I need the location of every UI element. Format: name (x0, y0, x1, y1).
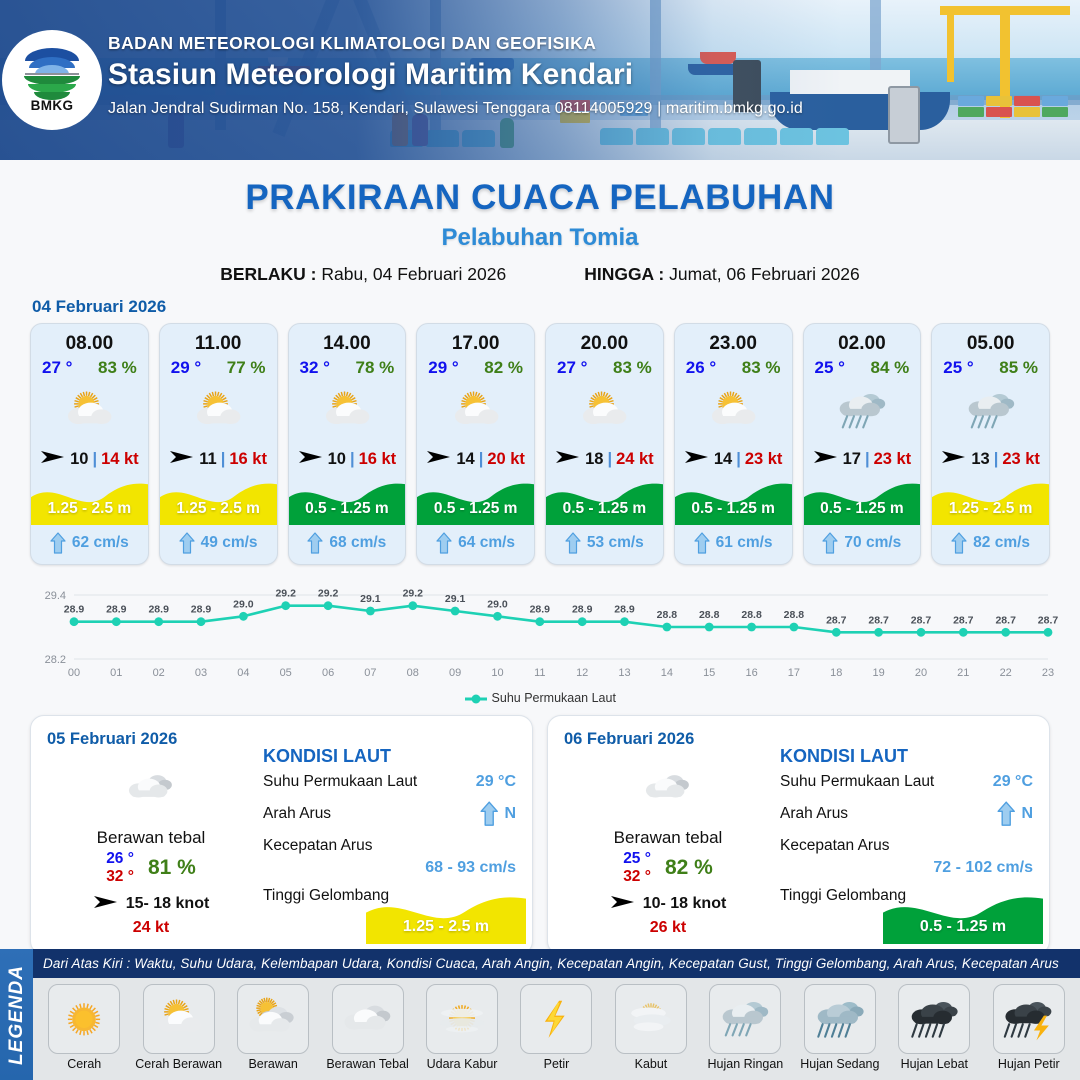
legend-item-row: Cerah Cerah Berawan (33, 978, 1080, 1080)
sst-row: Suhu Permukaan Laut 29 °C (263, 773, 518, 799)
svg-text:28.7: 28.7 (911, 614, 932, 626)
legend-item: Berawan (226, 984, 320, 1080)
page-title: PRAKIRAAN CUACA PELABUHAN (0, 178, 1080, 218)
svg-text:06: 06 (322, 667, 334, 679)
current-speed-value: 68 - 93 cm/s (425, 859, 516, 877)
day-wave-height: 0.5 - 1.25 m (883, 918, 1043, 936)
svg-text:29.2: 29.2 (403, 588, 424, 600)
sst-chart: 29.428.228.90028.90128.90228.90329.00429… (22, 579, 1058, 687)
card-wind-speed: 11 (199, 450, 216, 469)
card-time: 17.00 (417, 324, 534, 355)
weather-cloudy-icon (237, 984, 309, 1054)
card-wave: 1.25 - 2.5 m (160, 477, 277, 525)
svg-text:28.7: 28.7 (868, 614, 889, 626)
svg-text:18: 18 (830, 667, 842, 679)
svg-text:05: 05 (280, 667, 292, 679)
current-direction-label: Arah Arus (263, 805, 331, 822)
wind-direction-icon (93, 893, 119, 911)
svg-text:19: 19 (872, 667, 884, 679)
wind-direction-icon (555, 448, 581, 471)
card-temperature: 27 ° (557, 358, 587, 378)
svg-text:20: 20 (915, 667, 927, 679)
day-gust: 24 kt (51, 919, 251, 937)
card-humidity: 84 % (871, 358, 910, 378)
current-direction-icon (436, 532, 452, 554)
card-separator: | (221, 450, 226, 469)
day-wind: 10- 18 knot (568, 893, 768, 916)
current-direction-icon (997, 801, 1015, 826)
svg-text:09: 09 (449, 667, 461, 679)
current-direction-icon (179, 532, 195, 554)
card-separator: | (994, 450, 999, 469)
sea-conditions-title: KONDISI LAUT (263, 746, 518, 767)
card-separator: | (350, 450, 355, 469)
card-current-speed: 61 cm/s (716, 534, 773, 552)
sst-value: 29 °C (993, 773, 1033, 791)
weather-partly-cloudy-icon (417, 380, 534, 442)
day-wind-speed: 10- 18 knot (643, 895, 727, 913)
wind-direction-icon (813, 448, 839, 471)
card-wave-height: 1.25 - 2.5 m (932, 500, 1049, 518)
header-text-block: BADAN METEOROLOGI KLIMATOLOGI DAN GEOFIS… (108, 33, 968, 118)
svg-text:28.9: 28.9 (191, 604, 212, 616)
legend-item: Hujan Ringan (698, 984, 792, 1080)
card-gust: 16 kt (359, 450, 397, 469)
card-time: 11.00 (160, 324, 277, 355)
svg-text:28.2: 28.2 (45, 654, 66, 666)
legend-item-label: Petir (544, 1057, 570, 1071)
card-current-speed: 70 cm/s (844, 534, 901, 552)
wind-direction-icon (93, 893, 119, 916)
card-wave: 0.5 - 1.25 m (417, 477, 534, 525)
card-gust: 24 kt (616, 450, 654, 469)
wind-direction-icon (610, 893, 636, 916)
wind-direction-icon (298, 448, 324, 466)
card-time: 23.00 (675, 324, 792, 355)
legend-item: Berawan Tebal (320, 984, 414, 1080)
wind-direction-icon (426, 448, 452, 471)
card-wind: 10 | 14 kt (31, 448, 148, 471)
card-separator: | (92, 450, 97, 469)
day-gust: 26 kt (568, 919, 768, 937)
card-humidity: 78 % (356, 358, 395, 378)
svg-text:15: 15 (703, 667, 715, 679)
card-wave-height: 0.5 - 1.25 m (289, 500, 406, 518)
day-humidity: 82 % (665, 856, 713, 880)
berlaku-block: BERLAKU : Rabu, 04 Februari 2026 (220, 264, 506, 285)
legend-item: Hujan Sedang (793, 984, 887, 1080)
svg-text:29.2: 29.2 (275, 588, 296, 600)
weather-sunny-icon (48, 984, 120, 1054)
svg-text:12: 12 (576, 667, 588, 679)
svg-text:28.7: 28.7 (995, 614, 1016, 626)
card-wave-height: 0.5 - 1.25 m (417, 500, 534, 518)
card-current: 68 cm/s (289, 525, 406, 564)
card-wind: 14 | 23 kt (675, 448, 792, 471)
card-wind: 11 | 16 kt (160, 448, 277, 471)
wind-direction-icon (684, 448, 710, 466)
legend-item: Cerah Berawan (131, 984, 225, 1080)
card-temp-humidity: 26 ° 83 % (675, 355, 792, 378)
svg-text:01: 01 (110, 667, 122, 679)
card-humidity: 85 % (999, 358, 1038, 378)
day-wave-height: 1.25 - 2.5 m (366, 918, 526, 936)
card-time: 08.00 (31, 324, 148, 355)
day-weather-block: Berawan tebal 26 ° 32 ° 81 % 15- 18 knot… (51, 760, 251, 937)
current-direction-icon (822, 532, 838, 554)
card-gust: 16 kt (229, 450, 267, 469)
card-separator: | (479, 450, 484, 469)
legend-item-label: Kabut (635, 1057, 668, 1071)
legend-item: Udara Kabur (415, 984, 509, 1080)
sea-conditions-block: KONDISI LAUT Suhu Permukaan Laut 29 °C A… (263, 746, 518, 913)
card-separator: | (607, 450, 612, 469)
svg-text:28.8: 28.8 (741, 609, 762, 621)
wind-direction-icon (610, 893, 636, 911)
chart-legend: Suhu Permukaan Laut (0, 691, 1080, 705)
card-current-speed: 82 cm/s (973, 534, 1030, 552)
svg-text:28.7: 28.7 (953, 614, 974, 626)
card-wave: 0.5 - 1.25 m (804, 477, 921, 525)
card-wind-speed: 14 (714, 450, 732, 469)
svg-text:04: 04 (237, 667, 249, 679)
forecast-card[interactable]: 05.00 25 ° 85 % 13 | 23 kt (931, 323, 1050, 565)
legend-item: Kabut (604, 984, 698, 1080)
weather-overcast-icon (568, 760, 768, 816)
infographic-page: BMKG BADAN METEOROLOGI KLIMATOLOGI DAN G… (0, 0, 1080, 1080)
chart-legend-marker (464, 693, 488, 705)
card-temp-humidity: 27 ° 83 % (546, 355, 663, 378)
card-wind-speed: 17 (843, 450, 861, 469)
card-wave-height: 0.5 - 1.25 m (675, 500, 792, 518)
card-current-speed: 53 cm/s (587, 534, 644, 552)
svg-text:28.9: 28.9 (148, 604, 169, 616)
daily-forecast-panel[interactable]: 05 Februari 2026 Berawan tebal 26 ° 32 ° (30, 715, 533, 955)
svg-text:10: 10 (491, 667, 503, 679)
card-wind: 17 | 23 kt (804, 448, 921, 471)
forecast-card[interactable]: 08.00 27 ° 83 % 10 | 14 kt 1.25 - 2.5 m (30, 323, 149, 565)
wind-direction-icon (169, 448, 195, 471)
svg-text:03: 03 (195, 667, 207, 679)
wind-direction-icon (169, 448, 195, 466)
svg-text:29.0: 29.0 (233, 598, 254, 610)
sst-row: Suhu Permukaan Laut 29 °C (780, 773, 1035, 799)
card-gust: 14 kt (101, 450, 139, 469)
card-wind-speed: 18 (585, 450, 603, 469)
card-current: 53 cm/s (546, 525, 663, 564)
card-separator: | (736, 450, 741, 469)
legend-item: Hujan Lebat (887, 984, 981, 1080)
card-wave: 0.5 - 1.25 m (546, 477, 663, 525)
current-speed-value: 72 - 102 cm/s (933, 859, 1033, 877)
svg-text:21: 21 (957, 667, 969, 679)
card-current: 64 cm/s (417, 525, 534, 564)
card-time: 14.00 (289, 324, 406, 355)
legend-item-label: Hujan Sedang (800, 1057, 879, 1071)
forecast-card[interactable]: 17.00 29 ° 82 % 14 | 20 kt 0.5 - 1.25 m (416, 323, 535, 565)
current-direction-icon (50, 532, 66, 554)
card-current: 70 cm/s (804, 525, 921, 564)
validity-row: BERLAKU : Rabu, 04 Februari 2026 HINGGA … (0, 264, 1080, 285)
card-wind: 10 | 16 kt (289, 448, 406, 471)
forecast-card[interactable]: 14.00 32 ° 78 % 10 | 16 kt 0.5 - 1.25 m (288, 323, 407, 565)
weather-fog-icon (615, 984, 687, 1054)
current-direction-value: N (997, 801, 1033, 826)
weather-light-rain-icon (932, 380, 1049, 442)
svg-text:07: 07 (364, 667, 376, 679)
weather-partly-cloudy-icon (289, 380, 406, 442)
svg-text:28.7: 28.7 (1038, 614, 1058, 626)
svg-text:02: 02 (153, 667, 165, 679)
legend-note: Dari Atas Kiri : Waktu, Suhu Udara, Kele… (33, 949, 1080, 978)
card-wave: 0.5 - 1.25 m (289, 477, 406, 525)
card-temp-humidity: 29 ° 82 % (417, 355, 534, 378)
legend-item-label: Udara Kabur (427, 1057, 498, 1071)
daily-forecast-row: 05 Februari 2026 Berawan tebal 26 ° 32 ° (0, 705, 1080, 955)
svg-text:28.9: 28.9 (530, 604, 551, 616)
sst-value: 29 °C (476, 773, 516, 791)
forecast-date-label: 04 Februari 2026 (32, 297, 1080, 317)
forecast-card[interactable]: 02.00 25 ° 84 % 17 | 23 kt (803, 323, 922, 565)
weather-partly-cloudy-icon (546, 380, 663, 442)
legend-band-label: LEGENDA (6, 965, 28, 1065)
svg-text:28.9: 28.9 (572, 604, 593, 616)
current-direction-row: Arah Arus N (780, 805, 1035, 831)
card-time: 20.00 (546, 324, 663, 355)
card-gust: 23 kt (1002, 450, 1040, 469)
card-current: 82 cm/s (932, 525, 1049, 564)
day-temps: 26 ° 32 ° 81 % (51, 850, 251, 886)
wind-direction-icon (941, 448, 967, 466)
hingga-value: Jumat, 06 Februari 2026 (669, 264, 860, 284)
card-wind: 14 | 20 kt (417, 448, 534, 471)
svg-text:11: 11 (534, 667, 545, 679)
day-wind-speed: 15- 18 knot (126, 895, 210, 913)
card-temperature: 25 ° (943, 358, 973, 378)
wind-direction-icon (40, 448, 66, 471)
forecast-card[interactable]: 23.00 26 ° 83 % 14 | 23 kt 0.5 - 1.25 m (674, 323, 793, 565)
card-time: 02.00 (804, 324, 921, 355)
day-wind: 15- 18 knot (51, 893, 251, 916)
current-speed-label: Kecepatan Arus (263, 837, 372, 854)
legend-item-label: Hujan Lebat (901, 1057, 968, 1071)
svg-text:23: 23 (1042, 667, 1054, 679)
berlaku-label: BERLAKU : (220, 264, 316, 284)
card-wave: 1.25 - 2.5 m (932, 477, 1049, 525)
weather-partly-cloudy-icon (31, 380, 148, 442)
svg-text:13: 13 (618, 667, 630, 679)
svg-text:22: 22 (1000, 667, 1012, 679)
current-direction-label: Arah Arus (780, 805, 848, 822)
svg-text:28.9: 28.9 (64, 604, 85, 616)
day-temp-range: 26 ° 32 ° (106, 850, 134, 886)
day-humidity: 81 % (148, 856, 196, 880)
current-direction-row: Arah Arus N (263, 805, 518, 831)
svg-text:14: 14 (661, 667, 673, 679)
card-wind-speed: 13 (971, 450, 989, 469)
day-wave-badge: 1.25 - 2.5 m (366, 890, 526, 944)
forecast-card-row: 08.00 27 ° 83 % 10 | 14 kt 1.25 - 2.5 m (0, 323, 1080, 565)
weather-lightning-icon (520, 984, 592, 1054)
card-separator: | (865, 450, 870, 469)
card-temperature: 27 ° (42, 358, 72, 378)
card-humidity: 77 % (227, 358, 266, 378)
hingga-label: HINGGA : (584, 264, 664, 284)
day-temp-max: 32 ° (106, 868, 134, 886)
card-wave-height: 0.5 - 1.25 m (546, 500, 663, 518)
legend-item-label: Cerah Berawan (135, 1057, 222, 1071)
card-wind-speed: 10 (70, 450, 88, 469)
current-direction-icon (694, 532, 710, 554)
hingga-block: HINGGA : Jumat, 06 Februari 2026 (584, 264, 860, 285)
day-condition: Berawan tebal (51, 828, 251, 848)
svg-text:29.1: 29.1 (445, 593, 466, 605)
svg-text:08: 08 (407, 667, 419, 679)
card-current-speed: 64 cm/s (458, 534, 515, 552)
weather-partly-cloudy-icon (160, 380, 277, 442)
legend-item: Cerah (37, 984, 131, 1080)
card-time: 05.00 (932, 324, 1049, 355)
page-header: BMKG BADAN METEOROLOGI KLIMATOLOGI DAN G… (0, 0, 1080, 160)
svg-text:29.0: 29.0 (487, 598, 508, 610)
legend-item-label: Hujan Ringan (708, 1057, 784, 1071)
card-wind-speed: 10 (328, 450, 346, 469)
agency-name: BADAN METEOROLOGI KLIMATOLOGI DAN GEOFIS… (108, 33, 968, 54)
card-temp-humidity: 29 ° 77 % (160, 355, 277, 378)
current-direction-icon (951, 532, 967, 554)
current-direction-value: N (480, 801, 516, 826)
day-wave-badge: 0.5 - 1.25 m (883, 890, 1043, 944)
current-speed-row: Kecepatan Arus 68 - 93 cm/s (263, 837, 518, 863)
current-speed-label: Kecepatan Arus (780, 837, 889, 854)
legend-item-label: Hujan Petir (998, 1057, 1060, 1071)
station-name: Stasiun Meteorologi Maritim Kendari (108, 58, 968, 92)
legend-section: LEGENDA Dari Atas Kiri : Waktu, Suhu Uda… (0, 949, 1080, 1080)
current-direction-text: N (504, 805, 516, 823)
wind-direction-icon (813, 448, 839, 466)
weather-overcast-icon (51, 760, 251, 816)
card-gust: 23 kt (745, 450, 783, 469)
card-current: 61 cm/s (675, 525, 792, 564)
card-temp-humidity: 25 ° 85 % (932, 355, 1049, 378)
weather-heavy-rain-icon (898, 984, 970, 1054)
day-temp-min: 25 ° (623, 850, 651, 868)
card-current-speed: 62 cm/s (72, 534, 129, 552)
svg-text:00: 00 (68, 667, 80, 679)
wind-direction-icon (941, 448, 967, 471)
card-gust: 23 kt (874, 450, 912, 469)
svg-text:29.1: 29.1 (360, 593, 381, 605)
card-wave-height: 1.25 - 2.5 m (160, 500, 277, 518)
svg-text:28.9: 28.9 (106, 604, 127, 616)
card-current-speed: 49 cm/s (201, 534, 258, 552)
card-wave: 1.25 - 2.5 m (31, 477, 148, 525)
card-humidity: 82 % (484, 358, 523, 378)
sst-label: Suhu Permukaan Laut (780, 773, 934, 790)
current-direction-text: N (1021, 805, 1033, 823)
weather-haze-icon (426, 984, 498, 1054)
card-humidity: 83 % (742, 358, 781, 378)
legend-item: Petir (509, 984, 603, 1080)
bmkg-logo: BMKG (2, 30, 102, 130)
legend-item-label: Cerah (67, 1057, 101, 1071)
legend-band: LEGENDA (0, 949, 33, 1080)
svg-text:17: 17 (788, 667, 800, 679)
card-wave-height: 1.25 - 2.5 m (31, 500, 148, 518)
card-temp-humidity: 32 ° 78 % (289, 355, 406, 378)
forecast-card[interactable]: 20.00 27 ° 83 % 18 | 24 kt 0.5 - 1.25 m (545, 323, 664, 565)
card-humidity: 83 % (613, 358, 652, 378)
sea-conditions-block: KONDISI LAUT Suhu Permukaan Laut 29 °C A… (780, 746, 1035, 913)
current-speed-row: Kecepatan Arus 72 - 102 cm/s (780, 837, 1035, 863)
svg-text:28.8: 28.8 (657, 609, 678, 621)
svg-text:28.8: 28.8 (699, 609, 720, 621)
card-wind-speed: 14 (456, 450, 474, 469)
card-temperature: 32 ° (300, 358, 330, 378)
card-temp-humidity: 27 ° 83 % (31, 355, 148, 378)
legend-item: Hujan Petir (982, 984, 1076, 1080)
day-weather-block: Berawan tebal 25 ° 32 ° 82 % 10- 18 knot… (568, 760, 768, 937)
card-temperature: 26 ° (686, 358, 716, 378)
card-current: 49 cm/s (160, 525, 277, 564)
wind-direction-icon (684, 448, 710, 471)
card-temperature: 25 ° (815, 358, 845, 378)
card-temperature: 29 ° (428, 358, 458, 378)
current-direction-icon (565, 532, 581, 554)
card-current: 62 cm/s (31, 525, 148, 564)
day-temp-min: 26 ° (106, 850, 134, 868)
svg-text:28.8: 28.8 (784, 609, 805, 621)
daily-forecast-panel[interactable]: 06 Februari 2026 Berawan tebal 25 ° 32 ° (547, 715, 1050, 955)
card-wind: 18 | 24 kt (546, 448, 663, 471)
bmkg-logo-mark (21, 48, 83, 102)
wind-direction-icon (426, 448, 452, 466)
card-temperature: 29 ° (171, 358, 201, 378)
wind-direction-icon (555, 448, 581, 466)
card-wind: 13 | 23 kt (932, 448, 1049, 471)
card-wave: 0.5 - 1.25 m (675, 477, 792, 525)
card-humidity: 83 % (98, 358, 137, 378)
day-temp-max: 32 ° (623, 868, 651, 886)
weather-partly-cloudy-icon (143, 984, 215, 1054)
day-condition: Berawan tebal (568, 828, 768, 848)
day-temp-range: 25 ° 32 ° (623, 850, 651, 886)
svg-text:29.2: 29.2 (318, 588, 339, 600)
berlaku-value: Rabu, 04 Februari 2026 (321, 264, 506, 284)
sea-conditions-title: KONDISI LAUT (780, 746, 1035, 767)
weather-light-rain-icon (709, 984, 781, 1054)
legend-item-label: Berawan (248, 1057, 297, 1071)
card-temp-humidity: 25 ° 84 % (804, 355, 921, 378)
svg-text:28.9: 28.9 (614, 604, 635, 616)
current-direction-icon (307, 532, 323, 554)
card-wave-height: 0.5 - 1.25 m (804, 500, 921, 518)
wind-direction-icon (298, 448, 324, 471)
chart-legend-label: Suhu Permukaan Laut (492, 691, 616, 705)
svg-text:29.4: 29.4 (45, 590, 66, 602)
current-direction-icon (480, 801, 498, 826)
page-subtitle: Pelabuhan Tomia (0, 224, 1080, 252)
svg-text:16: 16 (745, 667, 757, 679)
station-address: Jalan Jendral Sudirman No. 158, Kendari,… (108, 100, 968, 118)
svg-text:28.7: 28.7 (826, 614, 847, 626)
card-gust: 20 kt (487, 450, 525, 469)
weather-light-rain-icon (804, 380, 921, 442)
legend-item-label: Berawan Tebal (326, 1057, 408, 1071)
forecast-card[interactable]: 11.00 29 ° 77 % 11 | 16 kt 1.25 - 2.5 m (159, 323, 278, 565)
weather-moderate-rain-icon (804, 984, 876, 1054)
weather-overcast-icon (332, 984, 404, 1054)
